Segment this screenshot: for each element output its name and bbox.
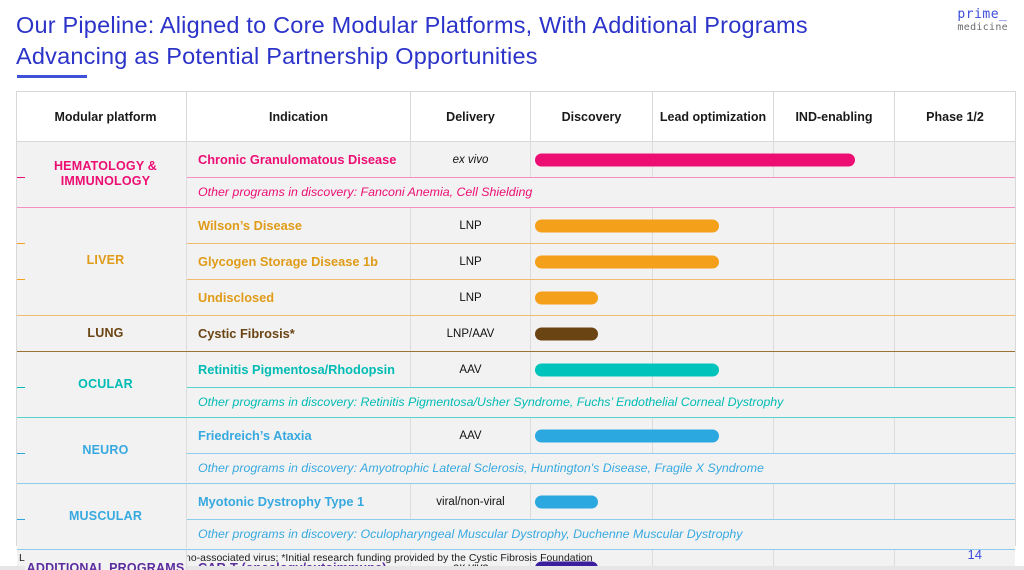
platform-name-cell: LIVER [25,208,187,313]
column-header-indication: Indication [187,92,411,141]
logo-primary-text: prime_ [957,8,1008,22]
page-number: 14 [968,547,982,562]
stage-cell [895,208,1015,243]
stage-cell [531,244,653,279]
column-header-modular-platform: Modular platform [25,92,187,141]
stage-cell [895,280,1015,315]
delivery-label: LNP/AAV [411,316,531,351]
stage-cell [653,418,774,453]
platform-label: MUSCULAR [69,509,142,524]
platform-label: NEURO [82,443,128,458]
row-accent-spacer [17,454,25,483]
stage-cell [774,280,895,315]
stage-cell [531,316,653,351]
slide-root: Our Pipeline: Aligned to Core Modular Pl… [0,0,1024,570]
delivery-label: ex vivo [411,142,531,177]
stage-cell [531,280,653,315]
pipeline-table: Modular platform Indication Delivery Dis… [16,91,1016,546]
column-header-lead-optimization: Lead optimization [653,92,774,141]
row-accent-spacer [17,484,25,519]
indication-label: Wilson’s Disease [187,208,411,243]
delivery-label: LNP [411,208,531,243]
platform-name-cell: OCULAR [25,352,187,416]
indication-label: Myotonic Dystrophy Type 1 [187,484,411,519]
column-header-delivery: Delivery [411,92,531,141]
indication-label: Friedreich’s Ataxia [187,418,411,453]
stage-cell [653,316,774,351]
platform-group: MUSCULARMyotonic Dystrophy Type 1viral/n… [17,484,1015,549]
stage-cell [774,142,895,177]
stage-cell [653,280,774,315]
delivery-label: LNP [411,280,531,315]
platform-name-cell: ADDITIONAL PROGRAMSAdvancing as potentia… [25,550,187,570]
row-accent-spacer [17,352,25,387]
platform-group: LUNGCystic Fibrosis*LNP/AAV [17,316,1015,351]
stage-cell [774,208,895,243]
other-programs-label: Other programs in discovery: Amyotrophic… [187,454,1015,483]
stage-cell [895,142,1015,177]
stage-cell [531,142,653,177]
platform-name-cell: LUNG [25,316,187,351]
platform-label: HEMATOLOGY & IMMUNOLOGY [25,159,186,189]
stage-cell [653,142,774,177]
stage-cell [774,418,895,453]
indication-label: Retinitis Pigmentosa/Rhodopsin [187,352,411,387]
stage-cell [653,244,774,279]
delivery-label: LNP [411,244,531,279]
page-title: Our Pipeline: Aligned to Core Modular Pl… [16,10,916,72]
column-header-discovery: Discovery [531,92,653,141]
title-underline-accent [17,75,87,78]
other-programs-label: Other programs in discovery: Fanconi Ane… [187,178,1015,207]
row-accent-spacer [17,244,25,279]
platform-label: OCULAR [78,377,133,392]
other-programs-label: Other programs in discovery: Retinitis P… [187,388,1015,417]
stage-cell [653,208,774,243]
platform-label: LIVER [87,253,125,268]
stage-cell [653,352,774,387]
delivery-label: viral/non-viral [411,484,531,519]
delivery-label: AAV [411,418,531,453]
platform-group: HEMATOLOGY & IMMUNOLOGYChronic Granuloma… [17,142,1015,207]
platform-name-cell: NEURO [25,418,187,482]
stage-cell [531,208,653,243]
logo-secondary-text: medicine [957,22,1008,34]
indication-label: Chronic Granulomatous Disease [187,142,411,177]
stage-cell [531,418,653,453]
indication-label: Glycogen Storage Disease 1b [187,244,411,279]
stage-cell [895,352,1015,387]
table-body: HEMATOLOGY & IMMUNOLOGYChronic Granuloma… [17,142,1015,570]
row-accent-spacer [17,520,25,549]
indication-label: Undisclosed [187,280,411,315]
platform-group: NEUROFriedreich’s AtaxiaAAVOther program… [17,418,1015,483]
indication-label: Cystic Fibrosis* [187,316,411,351]
platform-group: OCULARRetinitis Pigmentosa/RhodopsinAAVO… [17,352,1015,417]
column-header-phase-1-2: Phase 1/2 [895,92,1015,141]
stage-cell [895,418,1015,453]
other-programs-label: Other programs in discovery: Oculopharyn… [187,520,1015,549]
stage-cell [895,316,1015,351]
row-accent-spacer [17,316,25,351]
platform-label: ADDITIONAL PROGRAMS [27,561,185,570]
platform-group: LIVERWilson’s DiseaseLNPGlycogen Storage… [17,208,1015,315]
header-accent-spacer [17,92,25,141]
row-accent-spacer [17,418,25,453]
row-accent-spacer [17,388,25,417]
stage-cell [531,352,653,387]
company-logo: prime_ medicine [957,8,1008,34]
table-header-row: Modular platform Indication Delivery Dis… [17,92,1015,142]
stage-cell [895,484,1015,519]
row-accent-spacer [17,142,25,177]
column-header-ind-enabling: IND-enabling [774,92,895,141]
platform-label: LUNG [87,326,123,341]
stage-cell [774,352,895,387]
platform-name-cell: HEMATOLOGY & IMMUNOLOGY [25,142,187,206]
stage-cell [653,484,774,519]
stage-cell [774,316,895,351]
stage-cell [774,484,895,519]
row-accent-spacer [17,208,25,243]
row-accent-spacer [17,280,25,315]
platform-name-cell: MUSCULAR [25,484,187,548]
stage-cell [774,244,895,279]
stage-cell [895,244,1015,279]
delivery-label: AAV [411,352,531,387]
stage-cell [531,484,653,519]
row-accent-spacer [17,178,25,207]
